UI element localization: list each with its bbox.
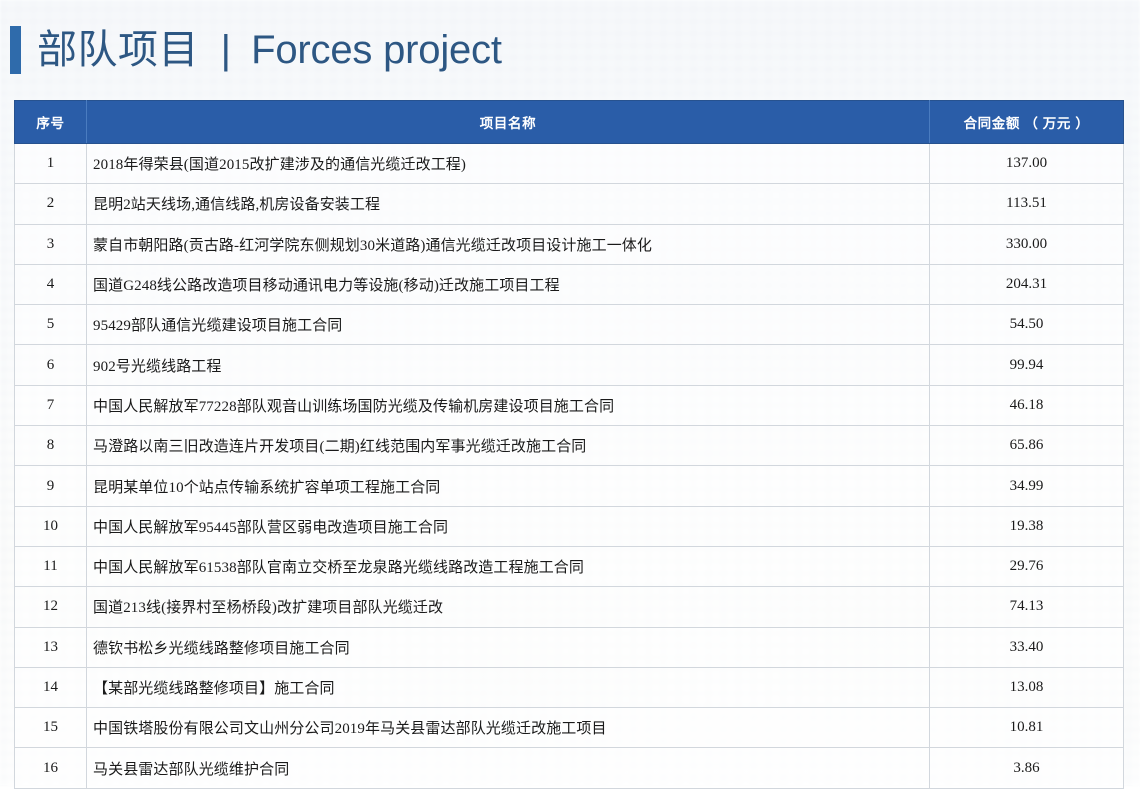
cell-contract-amount: 54.50 — [930, 305, 1124, 345]
table-row[interactable]: 595429部队通信光缆建设项目施工合同54.50 — [15, 305, 1124, 345]
table-row[interactable]: 15中国铁塔股份有限公司文山州分公司2019年马关县雷达部队光缆迁改施工项目10… — [15, 708, 1124, 748]
cell-index: 7 — [15, 385, 87, 425]
page-title-cn: 部队项目 — [37, 28, 199, 72]
cell-index: 2 — [15, 184, 87, 224]
cell-contract-amount: 330.00 — [930, 224, 1124, 264]
table-body: 12018年得荣县(国道2015改扩建涉及的通信光缆迁改工程)137.002昆明… — [15, 144, 1124, 789]
table-row[interactable]: 4国道G248线公路改造项目移动通讯电力等设施(移动)迁改施工项目工程204.3… — [15, 264, 1124, 304]
cell-project-name: 马澄路以南三旧改造连片开发项目(二期)红线范围内军事光缆迁改施工合同 — [87, 426, 930, 466]
cell-index: 5 — [15, 305, 87, 345]
cell-project-name: 蒙自市朝阳路(贡古路-红河学院东侧规划30米道路)通信光缆迁改项目设计施工一体化 — [87, 224, 930, 264]
cell-index: 3 — [15, 224, 87, 264]
cell-contract-amount: 99.94 — [930, 345, 1124, 385]
cell-index: 14 — [15, 667, 87, 707]
table-row[interactable]: 12国道213线(接界村至杨桥段)改扩建项目部队光缆迁改74.13 — [15, 587, 1124, 627]
cell-project-name: 德钦书松乡光缆线路整修项目施工合同 — [87, 627, 930, 667]
title-accent-bar — [10, 26, 21, 74]
column-header-index[interactable]: 序号 — [15, 101, 87, 144]
cell-index: 6 — [15, 345, 87, 385]
cell-contract-amount: 33.40 — [930, 627, 1124, 667]
cell-index: 13 — [15, 627, 87, 667]
cell-index: 16 — [15, 748, 87, 788]
cell-project-name: 中国人民解放军95445部队营区弱电改造项目施工合同 — [87, 506, 930, 546]
table-row[interactable]: 3蒙自市朝阳路(贡古路-红河学院东侧规划30米道路)通信光缆迁改项目设计施工一体… — [15, 224, 1124, 264]
forces-project-table: 序号 项目名称 合同金额 （ 万元 ） 12018年得荣县(国道2015改扩建涉… — [14, 100, 1124, 789]
cell-project-name: 902号光缆线路工程 — [87, 345, 930, 385]
cell-project-name: 昆明2站天线场,通信线路,机房设备安装工程 — [87, 184, 930, 224]
table-header: 序号 项目名称 合同金额 （ 万元 ） — [15, 101, 1124, 144]
cell-index: 9 — [15, 466, 87, 506]
cell-index: 11 — [15, 546, 87, 586]
table-row[interactable]: 13德钦书松乡光缆线路整修项目施工合同33.40 — [15, 627, 1124, 667]
page-root: 部队项目 | Forces project 序号 项目名称 合同金额 （ 万元 … — [0, 0, 1140, 785]
cell-index: 12 — [15, 587, 87, 627]
cell-project-name: 昆明某单位10个站点传输系统扩容单项工程施工合同 — [87, 466, 930, 506]
cell-contract-amount: 113.51 — [930, 184, 1124, 224]
table-row[interactable]: 16马关县雷达部队光缆维护合同3.86 — [15, 748, 1124, 788]
cell-project-name: 国道213线(接界村至杨桥段)改扩建项目部队光缆迁改 — [87, 587, 930, 627]
cell-index: 4 — [15, 264, 87, 304]
cell-contract-amount: 46.18 — [930, 385, 1124, 425]
cell-contract-amount: 3.86 — [930, 748, 1124, 788]
table-row[interactable]: 12018年得荣县(国道2015改扩建涉及的通信光缆迁改工程)137.00 — [15, 144, 1124, 184]
table-row[interactable]: 14【某部光缆线路整修项目】施工合同13.08 — [15, 667, 1124, 707]
cell-contract-amount: 137.00 — [930, 144, 1124, 184]
cell-contract-amount: 13.08 — [930, 667, 1124, 707]
cell-contract-amount: 29.76 — [930, 546, 1124, 586]
page-title-en: Forces project — [251, 28, 502, 72]
cell-contract-amount: 10.81 — [930, 708, 1124, 748]
cell-project-name: 95429部队通信光缆建设项目施工合同 — [87, 305, 930, 345]
cell-index: 15 — [15, 708, 87, 748]
cell-contract-amount: 19.38 — [930, 506, 1124, 546]
cell-contract-amount: 34.99 — [930, 466, 1124, 506]
cell-project-name: 中国人民解放军61538部队官南立交桥至龙泉路光缆线路改造工程施工合同 — [87, 546, 930, 586]
table-row[interactable]: 6902号光缆线路工程99.94 — [15, 345, 1124, 385]
cell-contract-amount: 65.86 — [930, 426, 1124, 466]
table-row[interactable]: 8马澄路以南三旧改造连片开发项目(二期)红线范围内军事光缆迁改施工合同65.86 — [15, 426, 1124, 466]
cell-index: 1 — [15, 144, 87, 184]
column-header-contract-amount[interactable]: 合同金额 （ 万元 ） — [930, 101, 1124, 144]
cell-index: 8 — [15, 426, 87, 466]
cell-project-name: 中国铁塔股份有限公司文山州分公司2019年马关县雷达部队光缆迁改施工项目 — [87, 708, 930, 748]
cell-project-name: 2018年得荣县(国道2015改扩建涉及的通信光缆迁改工程) — [87, 144, 930, 184]
table-row[interactable]: 10中国人民解放军95445部队营区弱电改造项目施工合同19.38 — [15, 506, 1124, 546]
table-header-row: 序号 项目名称 合同金额 （ 万元 ） — [15, 101, 1124, 144]
table-row[interactable]: 2昆明2站天线场,通信线路,机房设备安装工程113.51 — [15, 184, 1124, 224]
cell-project-name: 国道G248线公路改造项目移动通讯电力等设施(移动)迁改施工项目工程 — [87, 264, 930, 304]
table-row[interactable]: 7中国人民解放军77228部队观音山训练场国防光缆及传输机房建设项目施工合同46… — [15, 385, 1124, 425]
page-title-block: 部队项目 | Forces project — [0, 22, 502, 78]
table-row[interactable]: 11中国人民解放军61538部队官南立交桥至龙泉路光缆线路改造工程施工合同29.… — [15, 546, 1124, 586]
cell-project-name: 中国人民解放军77228部队观音山训练场国防光缆及传输机房建设项目施工合同 — [87, 385, 930, 425]
cell-contract-amount: 74.13 — [930, 587, 1124, 627]
table-row[interactable]: 9昆明某单位10个站点传输系统扩容单项工程施工合同34.99 — [15, 466, 1124, 506]
cell-index: 10 — [15, 506, 87, 546]
cell-project-name: 马关县雷达部队光缆维护合同 — [87, 748, 930, 788]
page-title: 部队项目 | Forces project — [37, 30, 502, 70]
column-header-project-name[interactable]: 项目名称 — [87, 101, 930, 144]
cell-project-name: 【某部光缆线路整修项目】施工合同 — [87, 667, 930, 707]
page-title-separator: | — [211, 28, 240, 72]
cell-contract-amount: 204.31 — [930, 264, 1124, 304]
